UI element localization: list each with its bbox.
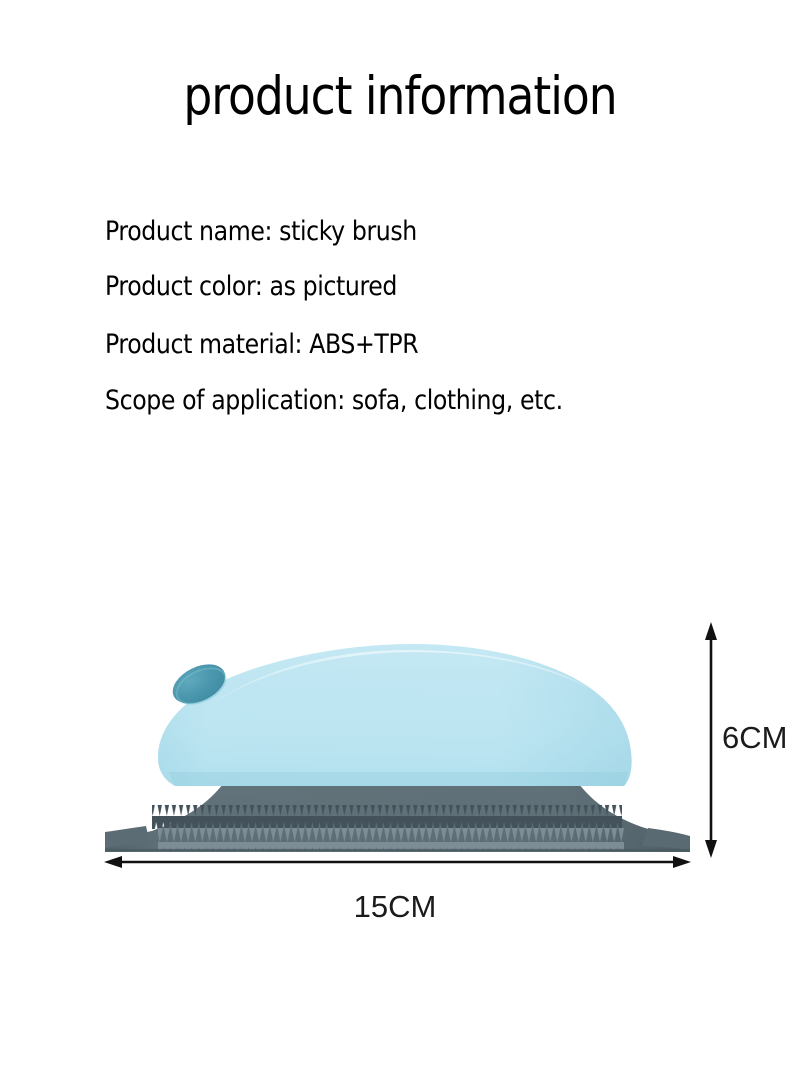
page-title: product information [56, 68, 744, 126]
spec-line-product-color: Product color: as pictured [105, 273, 665, 300]
spec-line-product-name: Product name: sticky brush [105, 218, 665, 245]
spec-line-product-material: Product material: ABS+TPR [105, 331, 665, 358]
dimension-label-width: 15CM [0, 890, 800, 924]
spec-list: Product name: sticky brush Product color… [105, 218, 745, 414]
brush-body [158, 644, 632, 786]
brush-teeth-back [152, 805, 622, 829]
dimension-arrow-height [705, 622, 717, 858]
dimension-label-height: 6CM [722, 721, 787, 755]
spec-line-scope-of-application: Scope of application: sofa, clothing, et… [105, 387, 665, 414]
product-information-page: product information Product name: sticky… [0, 0, 800, 1080]
brush-teeth-front [158, 828, 624, 850]
product-figure: 6CM 15CM [0, 600, 800, 940]
dimension-arrow-width [104, 856, 691, 868]
